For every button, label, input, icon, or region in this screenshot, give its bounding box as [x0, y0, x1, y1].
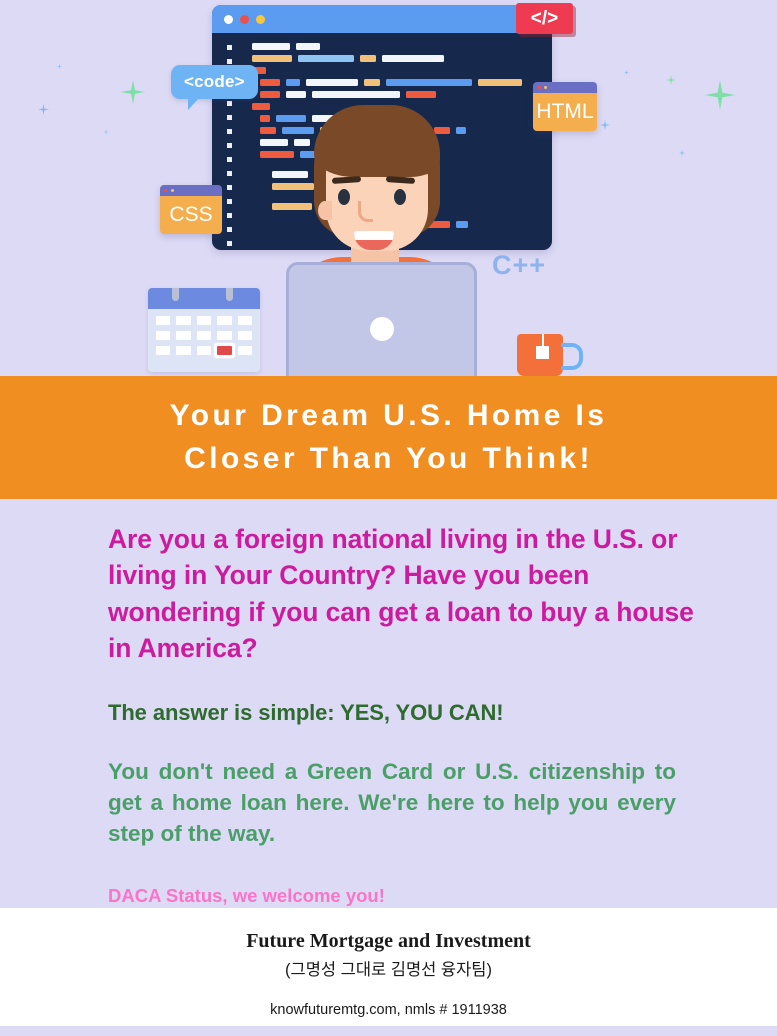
bottom-strip — [0, 1026, 777, 1036]
poster: <code> </> HTML CSS C++ Your Dream U.S. … — [0, 0, 777, 1036]
hero-illustration: <code> </> HTML CSS C++ — [0, 0, 777, 376]
calendar-grid — [148, 309, 260, 362]
css-card-label: CSS — [160, 196, 222, 234]
sparkle-blue-dot — [57, 64, 62, 69]
company-name-korean: (그명성 그대로 김명선 융자팀) — [0, 956, 777, 980]
sparkle-green-right — [705, 80, 735, 110]
calendar — [148, 288, 260, 372]
html-card: HTML — [533, 82, 597, 131]
person-nose — [358, 201, 373, 222]
sparkle-blue-top — [624, 70, 629, 75]
sparkle-green-mid — [666, 75, 676, 85]
headline-banner: Your Dream U.S. Home Is Closer Than You … — [0, 376, 777, 499]
calendar-header — [148, 288, 260, 309]
laptop-logo — [370, 317, 394, 341]
html-card-label: HTML — [533, 93, 597, 131]
html-card-titlebar — [533, 82, 597, 93]
calendar-ring-left — [172, 288, 179, 301]
code-tag-bubble: <code> — [171, 65, 258, 99]
person-eye-left — [338, 189, 350, 205]
window-dot-red — [240, 15, 249, 24]
footer-text-block: Future Mortgage and Investment (그명성 그대로 … — [0, 908, 777, 1018]
headline-line-1: Your Dream U.S. Home Is — [170, 398, 608, 435]
tea-bag-tag — [536, 346, 549, 359]
sparkle-blue-right — [600, 120, 610, 130]
question-text: Are you a foreign national living in the… — [108, 521, 709, 666]
contact-line: knowfuturemtg.com, nmls # 1911938 — [0, 1002, 777, 1018]
coffee-mug — [517, 334, 563, 376]
calendar-marked-date — [217, 346, 231, 355]
answer-text: The answer is simple: YES, YOU CAN! — [108, 700, 709, 726]
daca-text: DACA Status, we welcome you! — [108, 885, 709, 907]
explanation-text: You don't need a Green Card or U.S. citi… — [108, 756, 676, 849]
footer: Future Mortgage and Investment (그명성 그대로 … — [0, 908, 777, 1026]
mug-handle — [561, 343, 583, 370]
headline-line-2: Closer Than You Think! — [184, 441, 593, 478]
css-card-titlebar — [160, 185, 222, 196]
window-dot-white — [224, 15, 233, 24]
person-eye-right — [394, 189, 406, 205]
sparkle-blue-right-low — [679, 150, 685, 156]
person-ear — [318, 201, 332, 220]
sparkle-green-large — [121, 80, 145, 104]
slash-code-badge: </> — [516, 3, 573, 34]
company-name: Future Mortgage and Investment — [0, 930, 777, 953]
css-card: CSS — [160, 185, 222, 234]
person-teeth — [354, 231, 394, 240]
calendar-ring-right — [226, 288, 233, 301]
sparkle-blue-small — [38, 104, 49, 115]
window-dot-yellow — [256, 15, 265, 24]
sparkle-blue-tiny — [103, 129, 109, 135]
editor-title-bar — [212, 5, 552, 33]
laptop — [286, 262, 477, 376]
cpp-label: C++ — [492, 250, 546, 281]
body-content: Are you a foreign national living in the… — [0, 499, 777, 908]
